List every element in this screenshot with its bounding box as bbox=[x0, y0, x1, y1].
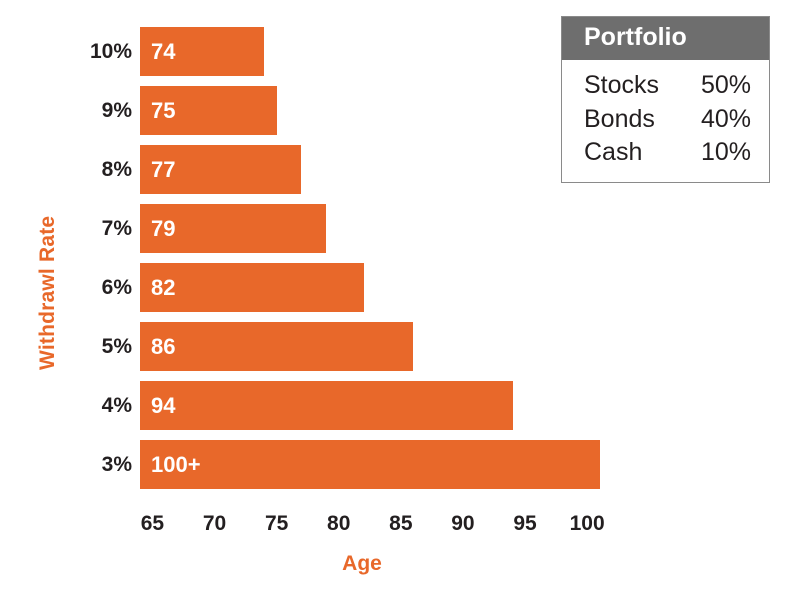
bar-row: 82 bbox=[140, 263, 612, 312]
legend-row-key: Cash bbox=[584, 136, 642, 170]
legend-title: Portfolio bbox=[562, 17, 769, 60]
legend-row: Stocks50% bbox=[584, 69, 751, 103]
x-tick-label: 95 bbox=[495, 512, 555, 536]
legend-row: Cash10% bbox=[584, 136, 751, 170]
bar-row: 74 bbox=[140, 27, 612, 76]
legend-row-key: Bonds bbox=[584, 103, 655, 137]
y-tick-label: 4% bbox=[60, 381, 132, 430]
x-tick-label: 80 bbox=[309, 512, 369, 536]
x-tick-label: 85 bbox=[371, 512, 431, 536]
bar-value-label: 79 bbox=[151, 204, 175, 253]
legend-portfolio: Portfolio Stocks50%Bonds40%Cash10% bbox=[561, 16, 770, 183]
y-tick-label: 9% bbox=[60, 86, 132, 135]
y-tick-label: 8% bbox=[60, 145, 132, 194]
y-axis-tick-labels: 10%9%8%7%6%5%4%3% bbox=[60, 27, 132, 490]
bar bbox=[140, 381, 513, 430]
y-tick-label: 6% bbox=[60, 263, 132, 312]
x-tick-label: 100 bbox=[557, 512, 617, 536]
x-axis-title: Age bbox=[140, 552, 584, 576]
bar bbox=[140, 440, 600, 489]
legend-row-value: 40% bbox=[701, 103, 751, 137]
bar-value-label: 94 bbox=[151, 381, 175, 430]
bar-row: 94 bbox=[140, 381, 612, 430]
y-tick-label: 10% bbox=[60, 27, 132, 76]
bar bbox=[140, 322, 413, 371]
legend-row-value: 10% bbox=[701, 136, 751, 170]
bar-row: 86 bbox=[140, 322, 612, 371]
plot-area: 74757779828694100+ bbox=[140, 27, 612, 490]
bar-row: 77 bbox=[140, 145, 612, 194]
bar-value-label: 100+ bbox=[151, 440, 201, 489]
legend-row-value: 50% bbox=[701, 69, 751, 103]
y-tick-label: 5% bbox=[60, 322, 132, 371]
bar-chart: Withdrawl Rate 10%9%8%7%6%5%4%3% 7475777… bbox=[0, 0, 800, 600]
bar-row: 100+ bbox=[140, 440, 612, 489]
x-tick-label: 65 bbox=[122, 512, 182, 536]
bar-value-label: 86 bbox=[151, 322, 175, 371]
y-tick-label: 7% bbox=[60, 204, 132, 253]
bar-value-label: 77 bbox=[151, 145, 175, 194]
x-tick-label: 70 bbox=[185, 512, 245, 536]
x-axis-tick-labels: 65707580859095100 bbox=[140, 512, 640, 542]
legend-rows: Stocks50%Bonds40%Cash10% bbox=[562, 60, 769, 182]
bar-value-label: 82 bbox=[151, 263, 175, 312]
bar-row: 75 bbox=[140, 86, 612, 135]
bar-value-label: 75 bbox=[151, 86, 175, 135]
bar-value-label: 74 bbox=[151, 27, 175, 76]
x-tick-label: 90 bbox=[433, 512, 493, 536]
legend-row: Bonds40% bbox=[584, 103, 751, 137]
bar-row: 79 bbox=[140, 204, 612, 253]
x-tick-label: 75 bbox=[247, 512, 307, 536]
legend-row-key: Stocks bbox=[584, 69, 659, 103]
y-tick-label: 3% bbox=[60, 440, 132, 489]
